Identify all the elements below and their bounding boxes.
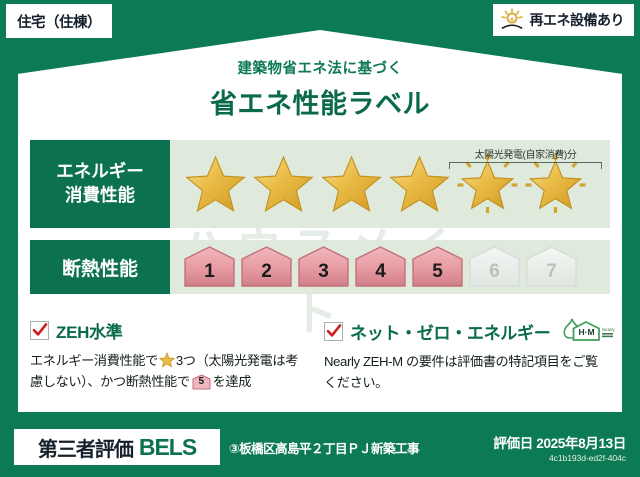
renewable-badge-label: 再エネ設備あり — [530, 10, 625, 30]
nzeb-criteria-header: ネット・ゼロ・エネルギー H·M Nearly — [324, 318, 610, 344]
insulation-level-value: 6 — [468, 262, 521, 281]
footer-bar: 第三者評価 BELS ③板橋区高島平２丁目ＰＪ新築工事 評価日 2025年8月1… — [0, 417, 640, 477]
energy-performance-label: エネルギー 消費性能 — [30, 140, 170, 228]
renewable-equipment-badge: e 再エネ設備あり — [493, 4, 635, 36]
zeh-criteria-header: ZEH水準 — [30, 318, 306, 343]
check-icon — [326, 323, 342, 339]
insulation-level-item: 6 — [468, 245, 521, 289]
insulation-level-item: 4 — [354, 245, 407, 289]
energy-star-scale: 太陽光発電(自家消費)分 — [170, 140, 610, 228]
sun-icon: e — [499, 8, 525, 32]
svg-text:H·M: H·M — [579, 327, 595, 337]
inline-house-icon: 5 — [192, 374, 211, 390]
insulation-performance-row: 断熱性能 1 — [30, 240, 610, 294]
house-type-tag-label: 住宅（住棟） — [17, 11, 101, 32]
nzeb-checkbox[interactable] — [324, 322, 343, 341]
bels-en-label: BELS — [139, 434, 196, 461]
star-rating-item — [183, 152, 248, 216]
nzeb-criteria-body: Nearly ZEH-M の要件は評価書の特記項目をご覧ください。 — [324, 351, 610, 394]
insulation-level-value: 3 — [297, 262, 350, 281]
label-title-block: 建築物省エネ法に基づく 省エネ性能ラベル — [0, 57, 640, 121]
zeh-criteria-body: エネルギー消費性能で3つ（太陽光発電は考慮しない）、かつ断熱性能で5を達成 — [30, 350, 306, 393]
star-rating-item — [251, 152, 316, 216]
bels-jp-label: 第三者評価 — [38, 433, 133, 462]
star-rating-item-solar — [455, 152, 520, 216]
insulation-level-value: 4 — [354, 262, 407, 281]
evaluation-date: 評価日 2025年8月13日 — [493, 432, 626, 452]
nzeb-criteria-title: ネット・ゼロ・エネルギー — [350, 319, 550, 344]
insulation-level-value: 5 — [411, 262, 464, 281]
star-rating-item — [319, 152, 384, 216]
insulation-performance-label: 断熱性能 — [30, 240, 170, 294]
insulation-level-item: 5 — [411, 245, 464, 289]
label-main-title: 省エネ性能ラベル — [0, 82, 640, 121]
energy-performance-row: エネルギー 消費性能 — [30, 140, 610, 228]
bels-certification-box: 第三者評価 BELS — [14, 429, 220, 465]
zeh-body-part2: 3つ（太陽光発電 — [176, 353, 272, 368]
zeh-criteria-title: ZEH水準 — [56, 318, 123, 343]
zeh-m-logo-icon: H·M Nearly — [560, 318, 616, 344]
star-group — [170, 152, 588, 216]
insulation-level-scale: 1 2 3 4 — [170, 240, 610, 294]
insulation-label-text: 断熱性能 — [62, 254, 138, 281]
inline-house-value: 5 — [192, 377, 211, 387]
evaluation-info: 評価日 2025年8月13日 4c1b193d-ed2f-404c — [493, 432, 626, 463]
house-type-tag: 住宅（住棟） — [6, 4, 112, 38]
insulation-level-item: 3 — [297, 245, 350, 289]
insulation-level-value: 1 — [183, 262, 236, 281]
star-rating-item-solar — [523, 152, 588, 216]
insulation-level-item: 2 — [240, 245, 293, 289]
label-subtitle: 建築物省エネ法に基づく — [0, 57, 640, 78]
house-level-group: 1 2 3 4 — [170, 245, 578, 289]
svg-text:e: e — [510, 16, 514, 23]
zeh-body-part4: を達成 — [213, 374, 251, 389]
evaluation-id: 4c1b193d-ed2f-404c — [493, 453, 626, 463]
check-icon — [32, 322, 48, 338]
insulation-level-value: 2 — [240, 262, 293, 281]
energy-performance-label: 住宅（住棟） e 再エネ設備あり 建築物省エネ法に基づく 省エネ性能ラベル — [0, 0, 640, 477]
zeh-body-part1: エネルギー消費性能で — [30, 353, 158, 368]
property-address: ③板橋区高島平２丁目ＰＪ新築工事 — [229, 438, 493, 457]
criteria-section: ZEH水準 エネルギー消費性能で3つ（太陽光発電は考慮しない）、かつ断熱性能で5… — [30, 318, 610, 394]
energy-label-line1: エネルギー — [56, 160, 144, 184]
energy-label-line2: 消費性能 — [65, 184, 135, 208]
zeh-criteria-column: ZEH水準 エネルギー消費性能で3つ（太陽光発電は考慮しない）、かつ断熱性能で5… — [30, 318, 306, 394]
insulation-level-item: 7 — [525, 245, 578, 289]
nzeb-criteria-column: ネット・ゼロ・エネルギー H·M Nearly Nearly ZEH-M の要件… — [324, 318, 610, 394]
inline-star-icon — [159, 352, 175, 368]
zeh-checkbox[interactable] — [30, 321, 49, 340]
star-rating-item — [387, 152, 452, 216]
svg-text:Nearly: Nearly — [602, 327, 615, 332]
insulation-level-item: 1 — [183, 245, 236, 289]
insulation-level-value: 7 — [525, 262, 578, 281]
